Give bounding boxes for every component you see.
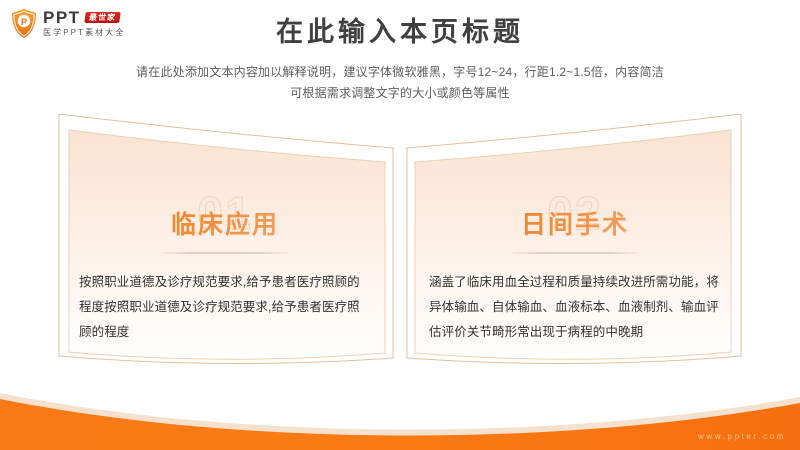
heading-divider — [161, 252, 289, 254]
slide-canvas: P PPT 最世家 医学PPT素材大全 在此输入本页标题 请在此处添加文本内容加… — [0, 0, 800, 450]
card-content-1: 01 临床应用 按照职业道德及诊疗规范要求,给予患者医疗照顾的程度按照职业道德及… — [55, 132, 395, 382]
card-heading: 日间手术 — [423, 132, 727, 240]
page-subtitle: 请在此处添加文本内容加以解释说明，建议字体微软雅黑，字号12~24，行距1.2~… — [0, 62, 800, 104]
card-content-2: 02 日间手术 涵盖了临床用血全过程和质量持续改进所需功能，将异体输血、自体输血… — [405, 132, 745, 382]
page-title: 在此输入本页标题 — [0, 15, 800, 49]
site-watermark: www.ppter.com — [698, 432, 786, 441]
card-body-text: 涵盖了临床用血全过程和质量持续改进所需功能，将异体输血、自体输血、血液标本、血液… — [429, 270, 721, 345]
heading-divider — [511, 252, 639, 254]
card-heading: 临床应用 — [73, 132, 377, 240]
content-card-2[interactable]: 02 日间手术 涵盖了临床用血全过程和质量持续改进所需功能，将异体输血、自体输血… — [405, 108, 745, 403]
card-body-text: 按照职业道德及诊疗规范要求,给予患者医疗照顾的程度按照职业道德及诊疗规范要求,给… — [79, 270, 371, 345]
subtitle-line-2: 可根据需求调整文字的大小或颜色等属性 — [0, 83, 800, 104]
footer-wave-decoration: www.ppter.com — [0, 375, 800, 450]
content-card-1[interactable]: 01 临床应用 按照职业道德及诊疗规范要求,给予患者医疗照顾的程度按照职业道德及… — [55, 108, 395, 403]
subtitle-line-1: 请在此处添加文本内容加以解释说明，建议字体微软雅黑，字号12~24，行距1.2~… — [0, 62, 800, 83]
